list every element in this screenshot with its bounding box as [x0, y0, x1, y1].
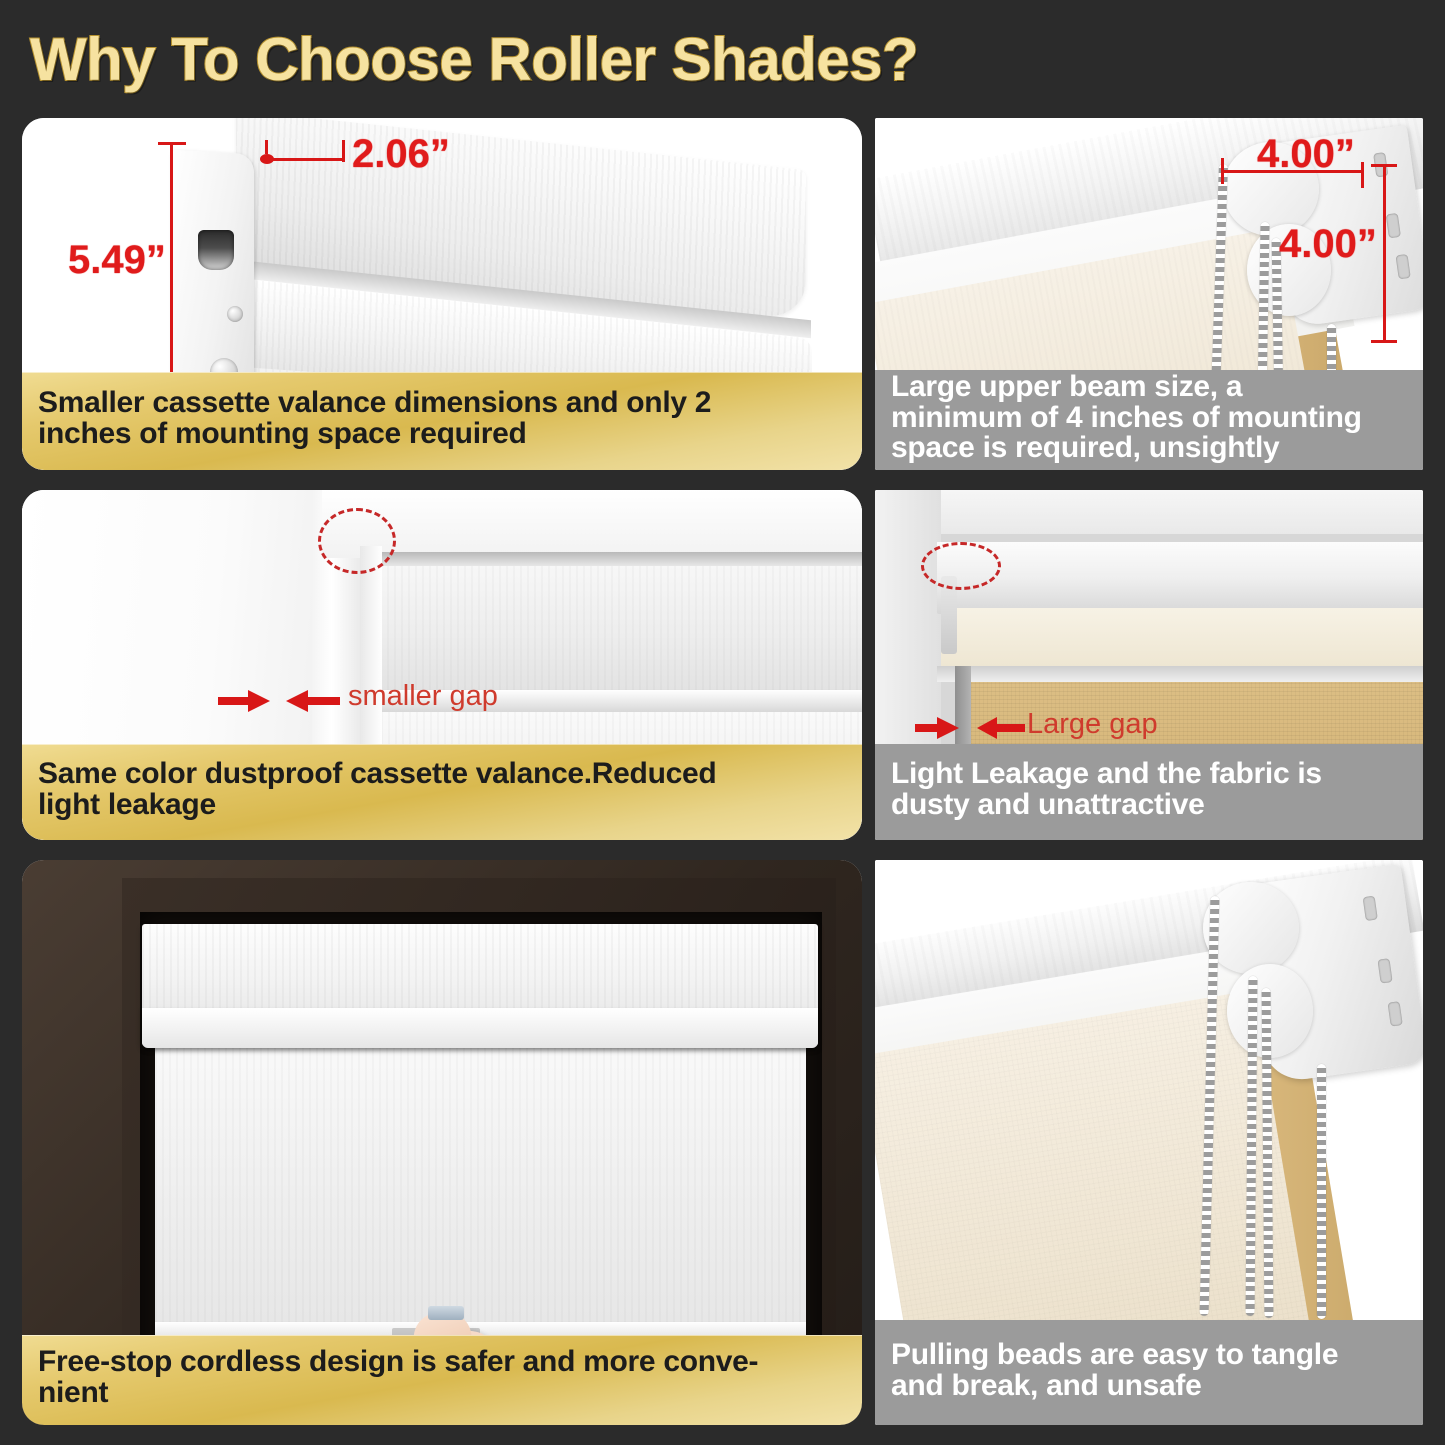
page-header: Why To Choose Roller Shades? — [0, 0, 1445, 118]
panel-bad-large-beam: 4.00” 4.00” Large upper beam size, a min… — [875, 118, 1423, 470]
caption-line: Same color dustproof cassette valance.Re… — [38, 759, 846, 790]
gap-label-smaller: smaller gap — [348, 680, 498, 713]
caption-line: Pulling beads are easy to tangle — [891, 1340, 1407, 1371]
caption-line: and break, and unsafe — [891, 1371, 1407, 1402]
caption-bad-large-beam: Large upper beam size, a minimum of 4 in… — [875, 370, 1423, 470]
dimension-label-width: 2.06” — [352, 132, 450, 177]
caption-line: Free-stop cordless design is safer and m… — [38, 1347, 846, 1378]
panel-good-cordless: Free-stop cordless design is safer and m… — [22, 860, 862, 1425]
gap-arrow-right-icon — [973, 714, 1025, 742]
caption-line: nient — [38, 1378, 846, 1409]
dimension-label-height: 5.49” — [68, 238, 166, 283]
panel-bad-light-leakage: Large gap Light Leakage and the fabric i… — [875, 490, 1423, 840]
highlight-ellipse-gap — [318, 508, 396, 574]
pull-tab — [428, 1306, 464, 1320]
dimension-label-beam-height: 4.00” — [1279, 222, 1377, 267]
caption-line: Smaller cassette valance dimensions and … — [38, 388, 846, 419]
gap-arrow-right-icon — [278, 686, 340, 716]
caption-line: minimum of 4 inches of mounting — [891, 403, 1407, 434]
caption-bad-pull-beads: Pulling beads are easy to tangle and bre… — [875, 1320, 1423, 1425]
caption-line: dusty and unattractive — [891, 790, 1407, 821]
highlight-ellipse-gap — [921, 542, 1001, 590]
panel-good-dustproof-valance: smaller gap Same color dustproof cassett… — [22, 490, 862, 840]
caption-line: inches of mounting space required — [38, 419, 846, 450]
gap-arrow-left-icon — [218, 686, 274, 716]
caption-line: Large upper beam size, a — [891, 372, 1407, 403]
panel-bad-pull-beads: Pulling beads are easy to tangle and bre… — [875, 860, 1423, 1425]
caption-bad-light-leakage: Light Leakage and the fabric is dusty an… — [875, 744, 1423, 840]
gap-arrow-left-icon — [915, 714, 961, 742]
caption-line: light leakage — [38, 790, 846, 821]
page-title: Why To Choose Roller Shades? — [30, 25, 918, 94]
bead-chain[interactable] — [1317, 1064, 1326, 1319]
caption-line: Light Leakage and the fabric is — [891, 759, 1407, 790]
caption-good-dustproof-valance: Same color dustproof cassette valance.Re… — [22, 744, 862, 840]
panel-good-cassette-dimensions: 2.06” 5.49” Smaller cassette valance dim… — [22, 118, 862, 470]
dimension-label-beam-width: 4.00” — [1257, 132, 1355, 177]
caption-good-cordless: Free-stop cordless design is safer and m… — [22, 1335, 862, 1425]
caption-line: space is required, unsightly — [891, 433, 1407, 464]
caption-good-cassette-dimensions: Smaller cassette valance dimensions and … — [22, 372, 862, 470]
gap-label-large: Large gap — [1027, 708, 1158, 741]
